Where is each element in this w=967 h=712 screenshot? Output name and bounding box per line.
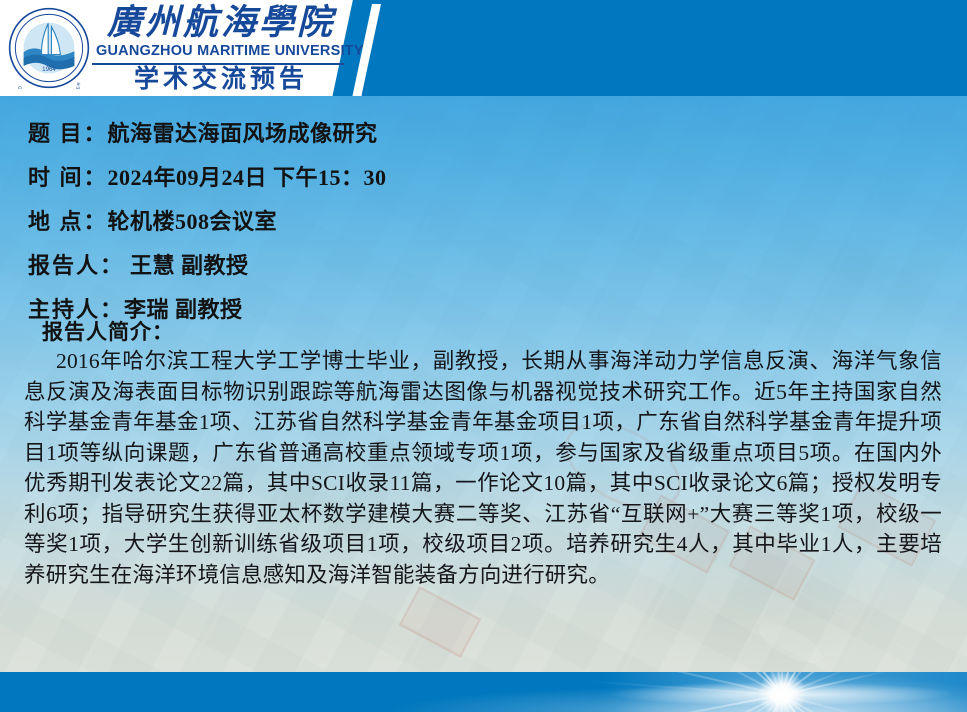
detail-label-time: 时 间： — [28, 165, 108, 190]
speaker-biography: 报告人简介： 2016年哈尔滨工程大学工学博士毕业，副教授，长期从事海洋动力学信… — [24, 318, 942, 590]
biography-heading: 报告人简介： — [24, 318, 942, 346]
detail-label-location: 地 点： — [28, 209, 108, 234]
biography-text: 2016年哈尔滨工程大学工学博士毕业，副教授，长期从事海洋动力学信息反演、海洋气… — [24, 346, 942, 590]
detail-row-topic: 题 目：航海雷达海面风场成像研究 — [28, 112, 928, 156]
event-details-list: 题 目：航海雷达海面风场成像研究 时 间：2024年09月24日 下午15：30… — [28, 112, 928, 332]
poster-footer — [0, 672, 967, 712]
header-subtitle: 学术交流预告 — [96, 65, 346, 95]
header-blue-slab — [329, 0, 967, 96]
detail-value-time: 2024年09月24日 下午15：30 — [108, 165, 387, 190]
university-crest-icon: 1964 GUANGZHOU MARITIME UNIVERSITY — [8, 7, 90, 89]
detail-value-topic: 航海雷达海面风场成像研究 — [108, 121, 378, 146]
university-name-cn: 廣州航海學院 — [96, 3, 346, 43]
detail-row-time: 时 间：2024年09月24日 下午15：30 — [28, 156, 928, 200]
detail-row-speaker: 报告人： 王慧 副教授 — [28, 244, 928, 288]
detail-label-topic: 题 目： — [28, 121, 108, 146]
detail-value-speaker: 王慧 副教授 — [124, 253, 249, 278]
announcement-poster: 1964 GUANGZHOU MARITIME UNIVERSITY 廣州航海學… — [0, 0, 967, 712]
detail-value-location: 轮机楼508会议室 — [108, 209, 278, 234]
detail-row-location: 地 点：轮机楼508会议室 — [28, 200, 928, 244]
poster-header: 1964 GUANGZHOU MARITIME UNIVERSITY 廣州航海學… — [0, 0, 967, 96]
header-title-block: 廣州航海學院 GUANGZHOU MARITIME UNIVERSITY — [96, 3, 346, 60]
crest-year: 1964 — [42, 66, 56, 73]
detail-label-speaker: 报告人： — [28, 253, 124, 278]
university-name-en: GUANGZHOU MARITIME UNIVERSITY — [96, 43, 346, 60]
poster-content: 题 目：航海雷达海面风场成像研究 时 间：2024年09月24日 下午15：30… — [0, 96, 967, 672]
